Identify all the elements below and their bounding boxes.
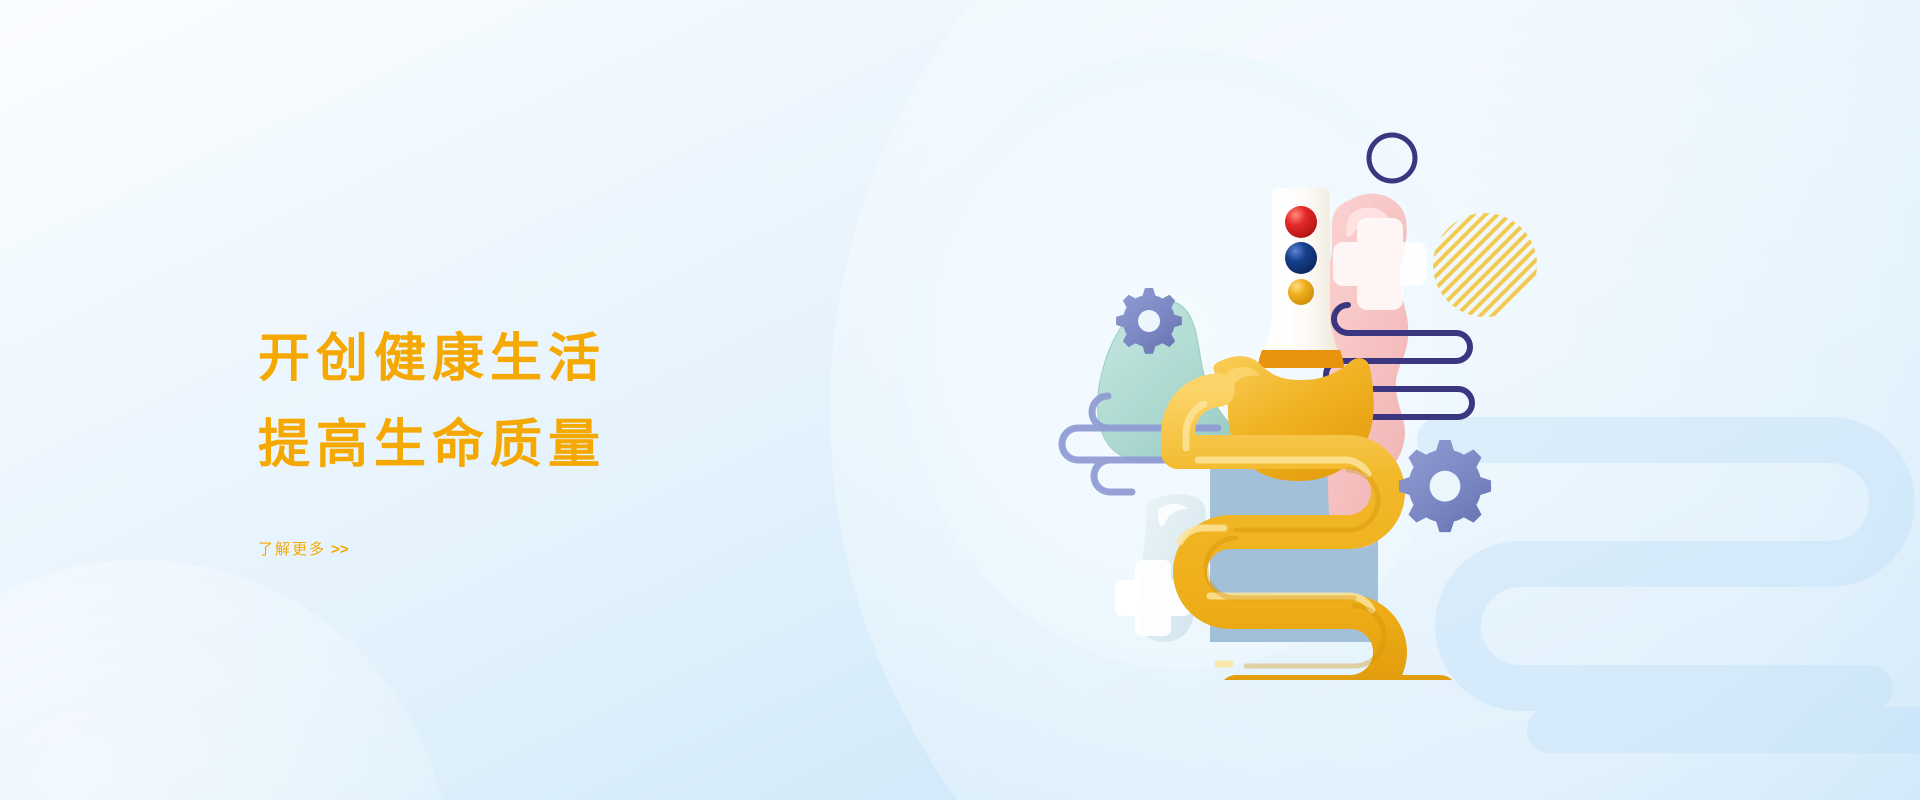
marker-amber <box>1288 279 1314 305</box>
marker-navy <box>1285 242 1317 274</box>
learn-more-label: 了解更多 <box>258 541 326 558</box>
hero-banner: 开创健康生活 提高生命质量 了解更多>> <box>0 0 1920 800</box>
digestive-system-illustration <box>880 60 1580 680</box>
marker-red <box>1285 206 1317 238</box>
test-tube-liquid <box>1258 350 1344 368</box>
chevron-right-icon: >> <box>331 541 349 558</box>
background-blob-left <box>0 560 450 800</box>
gear-small-icon <box>1116 288 1182 354</box>
striped-circle <box>1400 60 1580 408</box>
learn-more-link[interactable]: 了解更多>> <box>258 538 349 559</box>
copy-block: 开创健康生活 提高生命质量 了解更多>> <box>258 318 898 559</box>
gear-large-icon <box>1399 440 1491 532</box>
headline-line-1: 开创健康生活 <box>258 318 898 400</box>
ring-outline <box>1369 135 1415 181</box>
headline-line-2: 提高生命质量 <box>258 404 898 486</box>
